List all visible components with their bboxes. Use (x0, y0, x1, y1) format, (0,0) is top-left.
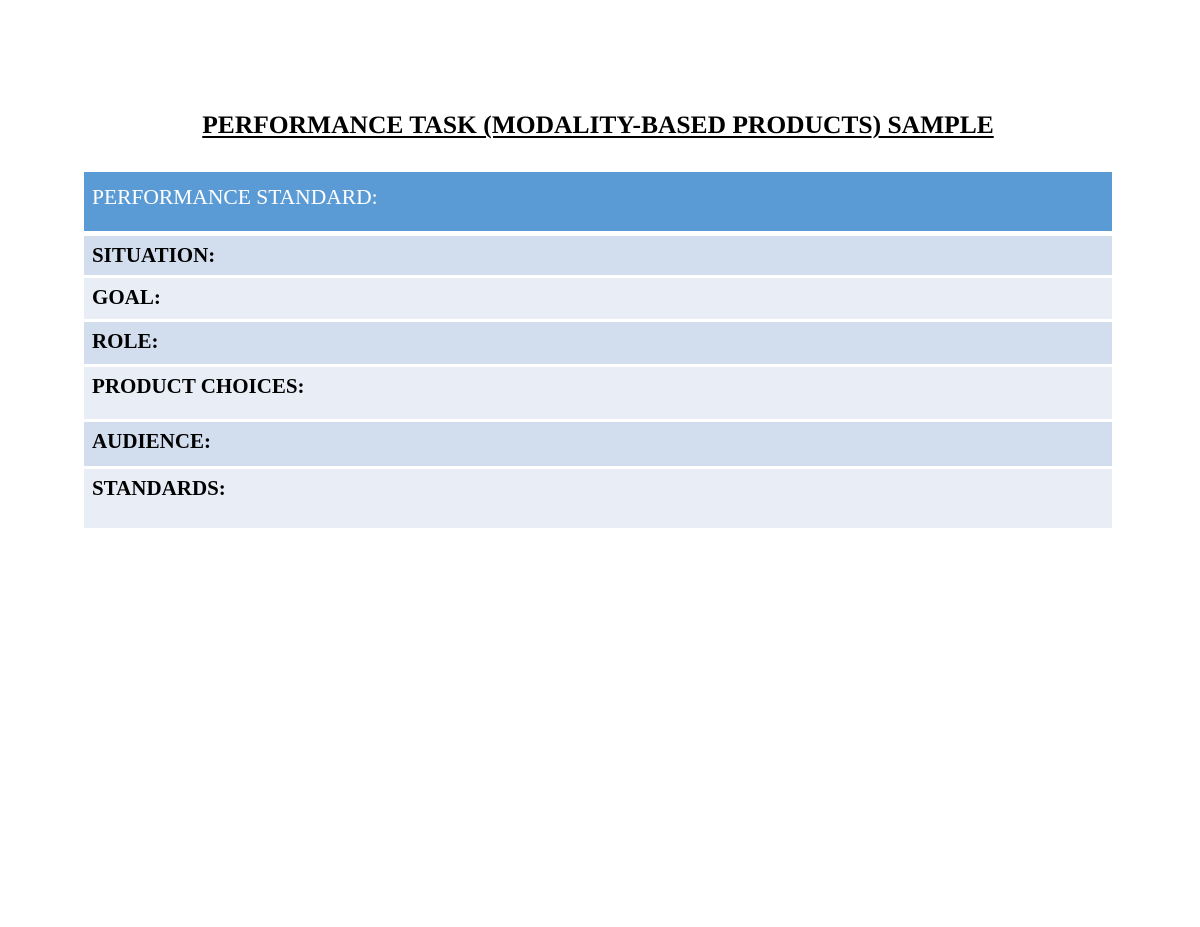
table-row-audience[interactable]: AUDIENCE: (84, 422, 1112, 466)
row-label-situation: SITUATION: (92, 242, 1104, 268)
row-label-performance-standard: PERFORMANCE STANDARD: (92, 184, 1104, 210)
row-label-role: ROLE: (92, 328, 1104, 354)
table-row-role[interactable]: ROLE: (84, 322, 1112, 364)
document-page: PERFORMANCE TASK (MODALITY-BASED PRODUCT… (0, 0, 1200, 927)
row-label-standards: STANDARDS: (92, 475, 1104, 501)
table-row-performance-standard[interactable]: PERFORMANCE STANDARD: (84, 172, 1112, 231)
row-label-goal: GOAL: (92, 284, 1104, 310)
row-label-product-choices: PRODUCT CHOICES: (92, 373, 1104, 399)
page-title: PERFORMANCE TASK (MODALITY-BASED PRODUCT… (84, 110, 1112, 140)
table-row-standards[interactable]: STANDARDS: (84, 469, 1112, 528)
page-title-text: PERFORMANCE TASK (MODALITY-BASED PRODUCT… (202, 110, 994, 139)
table-row-goal[interactable]: GOAL: (84, 278, 1112, 319)
row-label-audience: AUDIENCE: (92, 428, 1104, 454)
performance-task-table: PERFORMANCE STANDARD: SITUATION: GOAL: R… (84, 172, 1112, 528)
table-row-situation[interactable]: SITUATION: (84, 236, 1112, 275)
table-row-product-choices[interactable]: PRODUCT CHOICES: (84, 367, 1112, 419)
